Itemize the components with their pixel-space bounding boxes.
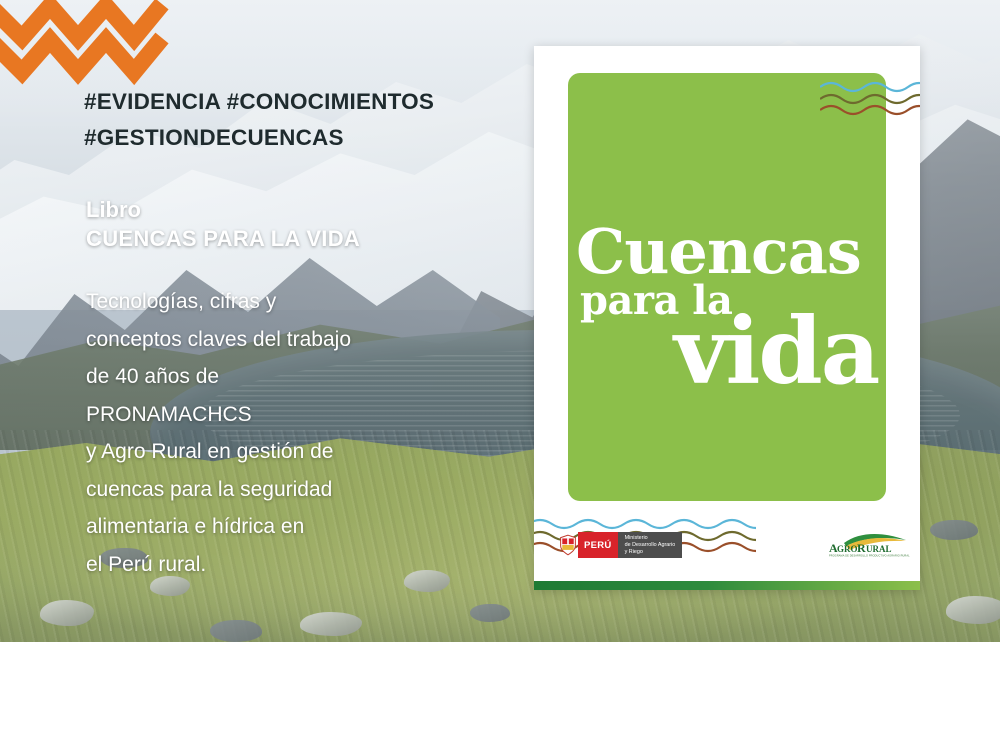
svg-text:R: R <box>857 541 866 555</box>
cover-ministry-name: Ministerio de Desarrollo Agrario y Riego <box>618 532 683 558</box>
headline-kicker: Libro <box>86 196 516 224</box>
wavy-lines-top-icon <box>820 79 920 119</box>
cover-agrorural-logo: A GRO R URAL PROGRAMA DE DESARROLLO PROD… <box>826 532 910 558</box>
blurb-line: alimentaria e hídrica en <box>86 508 486 546</box>
page-title: CUENCAS PARA LA VIDA <box>86 224 516 254</box>
headline-block: Libro CUENCAS PARA LA VIDA <box>86 196 516 254</box>
blurb-line: conceptos claves del trabajo <box>86 321 486 359</box>
svg-text:GRO: GRO <box>837 544 858 554</box>
blurb-line: PRONAMACHCS <box>86 396 486 434</box>
hashtag-line-2: #GESTIONDECUENCAS <box>84 120 514 156</box>
cover-ministry-country: PERÚ <box>578 532 618 558</box>
footer-logo-bar: PERÚ Ministerio de Desarrollo Agrario y … <box>0 642 1000 746</box>
hashtag-line-1: #EVIDENCIA #CONOCIMIENTOS <box>84 84 514 120</box>
cover-ministry-line-2: de Desarrollo Agrario <box>625 542 676 549</box>
blurb-line: cuencas para la seguridad <box>86 471 486 509</box>
poster-root: #EVIDENCIA #CONOCIMIENTOS #GESTIONDECUEN… <box>0 0 1000 746</box>
blurb-text: Tecnologías, cifras y conceptos claves d… <box>86 283 486 583</box>
svg-text:URAL: URAL <box>866 544 892 554</box>
cover-ministry-line-3: y Riego <box>625 549 676 556</box>
hashtag-block: #EVIDENCIA #CONOCIMIENTOS #GESTIONDECUEN… <box>84 84 514 156</box>
andes-resilientes-zigzag-icon <box>0 0 170 88</box>
book-cover-image: Cuencas para la vida PERÚ Ministerio de … <box>534 46 920 590</box>
cover-bottom-bar <box>534 581 920 590</box>
blurb-line: el Perú rural. <box>86 546 486 584</box>
peru-coat-of-arms-icon <box>558 532 578 558</box>
blurb-line: de 40 años de <box>86 358 486 396</box>
blurb-line: Tecnologías, cifras y <box>86 283 486 321</box>
svg-text:PROGRAMA DE DESARROLLO PRODUCT: PROGRAMA DE DESARROLLO PRODUCTIVO AGRARI… <box>829 555 910 558</box>
cover-ministry-logo: PERÚ Ministerio de Desarrollo Agrario y … <box>558 532 682 558</box>
cover-ministry-line-1: Ministerio <box>625 535 676 542</box>
blurb-line: y Agro Rural en gestión de <box>86 433 486 471</box>
cover-green-panel <box>568 73 886 501</box>
